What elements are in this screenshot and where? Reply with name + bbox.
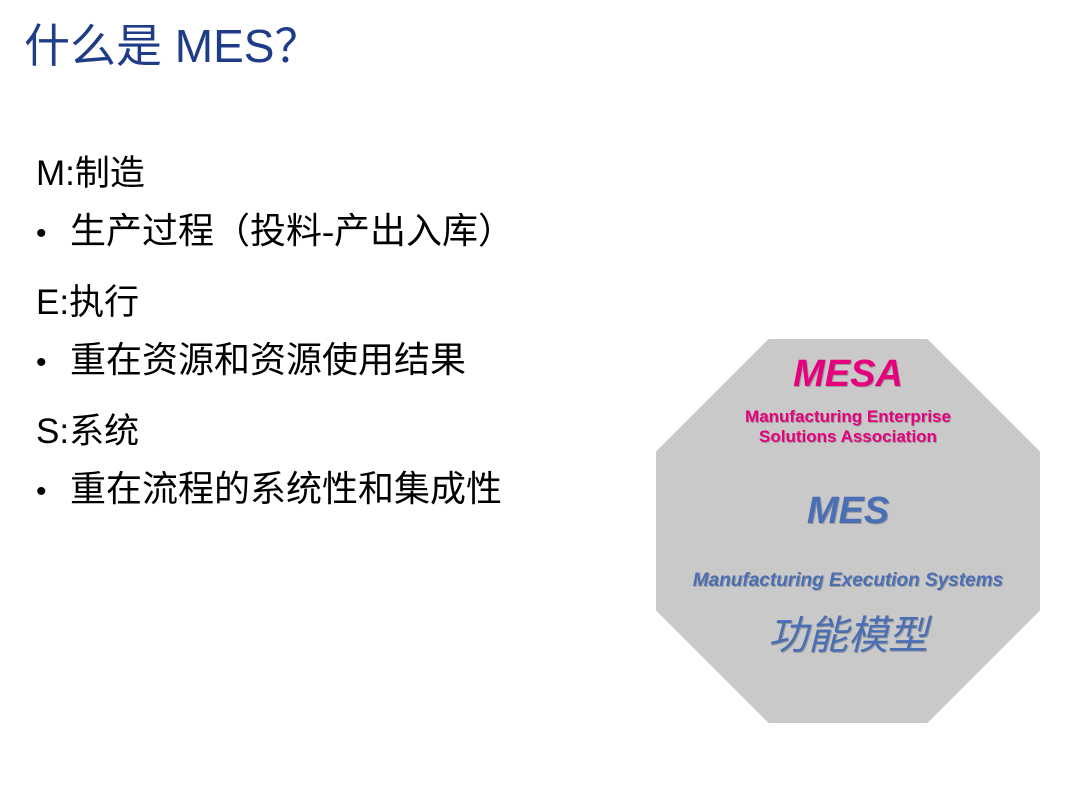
- page-title: 什么是 MES？: [24, 10, 320, 76]
- list-item-m-heading: M:制造: [36, 145, 676, 196]
- slide-canvas: 什么是 MES？ M:制造 • 生产过程（投料-产出入库） E:执行 • 重在资…: [0, 0, 1080, 810]
- body-content-list: M:制造 • 生产过程（投料-产出入库） E:执行 • 重在资源和资源使用结果 …: [36, 145, 676, 532]
- list-item-label: 重在资源和资源使用结果: [70, 331, 466, 383]
- mesa-subtitle: Manufacturing Enterprise Solutions Assoc…: [656, 407, 1040, 446]
- list-item-e-heading: E:执行: [36, 274, 676, 325]
- list-item-m-bullet: • 生产过程（投料-产出入库）: [36, 202, 676, 254]
- list-item-s-bullet: • 重在流程的系统性和集成性: [36, 460, 676, 512]
- bullet-icon: •: [36, 477, 70, 507]
- mes-title: MES: [656, 490, 1040, 533]
- mesa-title: MESA: [656, 353, 1040, 396]
- octagon-diagram: MESA Manufacturing Enterprise Solutions …: [656, 339, 1040, 723]
- list-item-s-heading: S:系统: [36, 403, 676, 454]
- mes-subtitle: Manufacturing Execution Systems: [656, 570, 1040, 592]
- mesa-subtitle-line2: Solutions Association: [656, 427, 1040, 447]
- mesa-subtitle-line1: Manufacturing Enterprise: [656, 407, 1040, 427]
- list-item-label: 生产过程（投料-产出入库）: [70, 202, 514, 254]
- bullet-icon: •: [36, 219, 70, 249]
- list-item-label: 重在流程的系统性和集成性: [70, 460, 502, 512]
- mes-chinese-label: 功能模型: [656, 603, 1040, 661]
- list-item-e-bullet: • 重在资源和资源使用结果: [36, 331, 676, 383]
- bullet-icon: •: [36, 348, 70, 378]
